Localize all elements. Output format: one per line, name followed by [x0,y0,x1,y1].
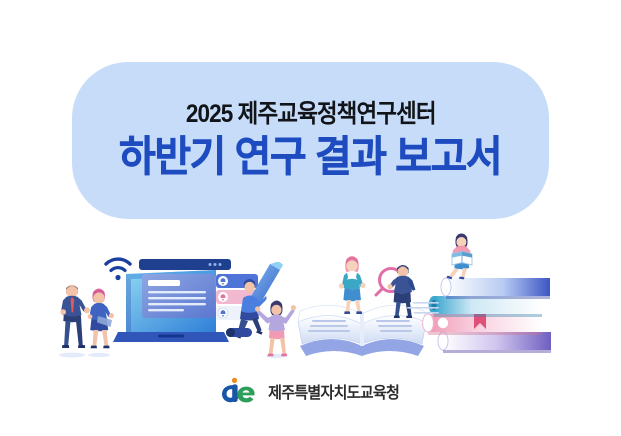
book-blue [441,278,550,299]
book-teal [429,296,542,317]
marker-icon [226,328,252,337]
book-purple [438,332,551,353]
footer-brand: 제주특별자치도교육청 [0,374,621,408]
reading-person-figure [446,234,472,280]
poster-subtitle: 2025 제주교육정책연구센터 [186,101,436,127]
businesswoman-figure [88,289,114,358]
title-card: 2025 제주교육정책연구센터 하반기 연구 결과 보고서 [72,62,549,219]
document-card [142,274,215,318]
illustration-band [0,228,621,368]
organization-name: 제주특별자치도교육청 [269,379,400,403]
book-stack [423,278,551,353]
woman-on-book-figure [339,256,366,314]
jeju-education-office-logo [217,377,257,405]
browser-window [139,259,231,270]
poster-canvas: 2025 제주교육정책연구센터 하반기 연구 결과 보고서 [0,0,621,436]
businessman-figure [59,285,90,358]
poster-main-title: 하반기 연구 결과 보고서 [119,134,501,180]
